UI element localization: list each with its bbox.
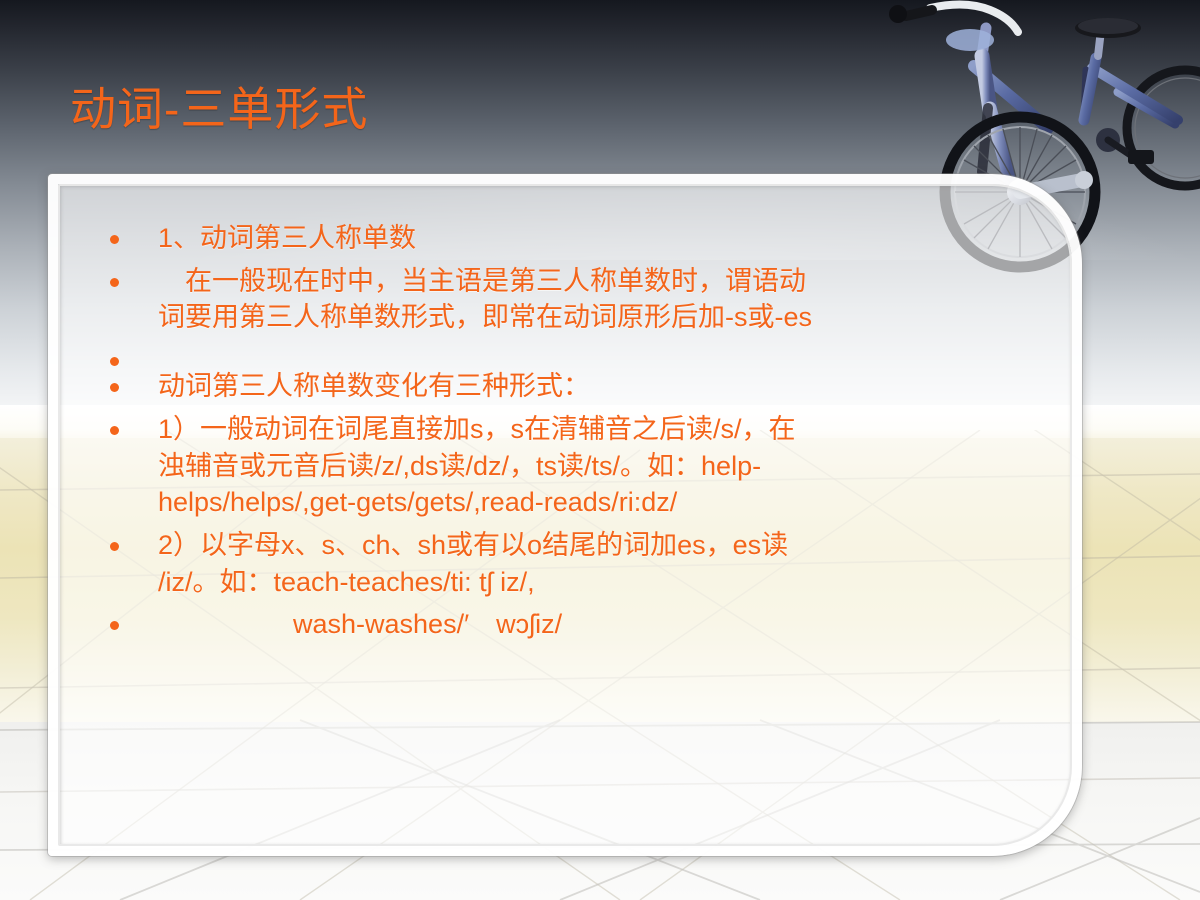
list-item: 1、动词第三人称单数 [96, 220, 1006, 257]
list-item: 动词第三人称单数变化有三种形式： [96, 368, 1006, 405]
list-item: 2）以字母x、s、ch、sh或有以o结尾的词加es，es读 /iz/。如：tea… [96, 527, 1006, 600]
bullet-list: 1、动词第三人称单数 在一般现在时中，当主语是第三人称单数时，谓语动 词要用第三… [96, 220, 1006, 649]
content-frame-inner-border: 1、动词第三人称单数 在一般现在时中，当主语是第三人称单数时，谓语动 词要用第三… [58, 184, 1072, 846]
bullet-line: 动词第三人称单数变化有三种形式： [158, 368, 1006, 405]
slide-title: 动词-三单形式 [70, 86, 368, 132]
content-frame: 1、动词第三人称单数 在一般现在时中，当主语是第三人称单数时，谓语动 词要用第三… [48, 174, 1082, 856]
presentation-slide: 动词-三单形式 1、动词第三人称单数 在一般现在时中，当主语是第三人称单数时，谓… [0, 0, 1200, 900]
list-item: 1）一般动词在词尾直接加s，s在清辅音之后读/s/，在 浊辅音或元音后读/z/,… [96, 411, 1006, 521]
bullet-line: 浊辅音或元音后读/z/,ds读/dz/，ts读/ts/。如：help- [158, 448, 1006, 485]
bullet-line: 在一般现在时中，当主语是第三人称单数时，谓语动 [158, 263, 1006, 300]
bullet-line: 词要用第三人称单数形式，即常在动词原形后加-s或-es [158, 299, 1006, 336]
bullet-line: 1）一般动词在词尾直接加s，s在清辅音之后读/s/，在 [158, 411, 1006, 448]
list-item-empty [96, 342, 1006, 364]
list-item: 在一般现在时中，当主语是第三人称单数时，谓语动 词要用第三人称单数形式，即常在动… [96, 263, 1006, 336]
bullet-line: wash-washes/′ wɔʃiz/ [158, 606, 1006, 643]
bullet-line: 1、动词第三人称单数 [158, 220, 1006, 257]
bullet-line: 2）以字母x、s、ch、sh或有以o结尾的词加es，es读 [158, 527, 1006, 564]
bullet-line: helps/helps/,get-gets/gets/,read-reads/r… [158, 484, 1006, 521]
bullet-line: /iz/。如：teach-teaches/ti: tʃ iz/, [158, 564, 1006, 601]
list-item: wash-washes/′ wɔʃiz/ [96, 606, 1006, 643]
